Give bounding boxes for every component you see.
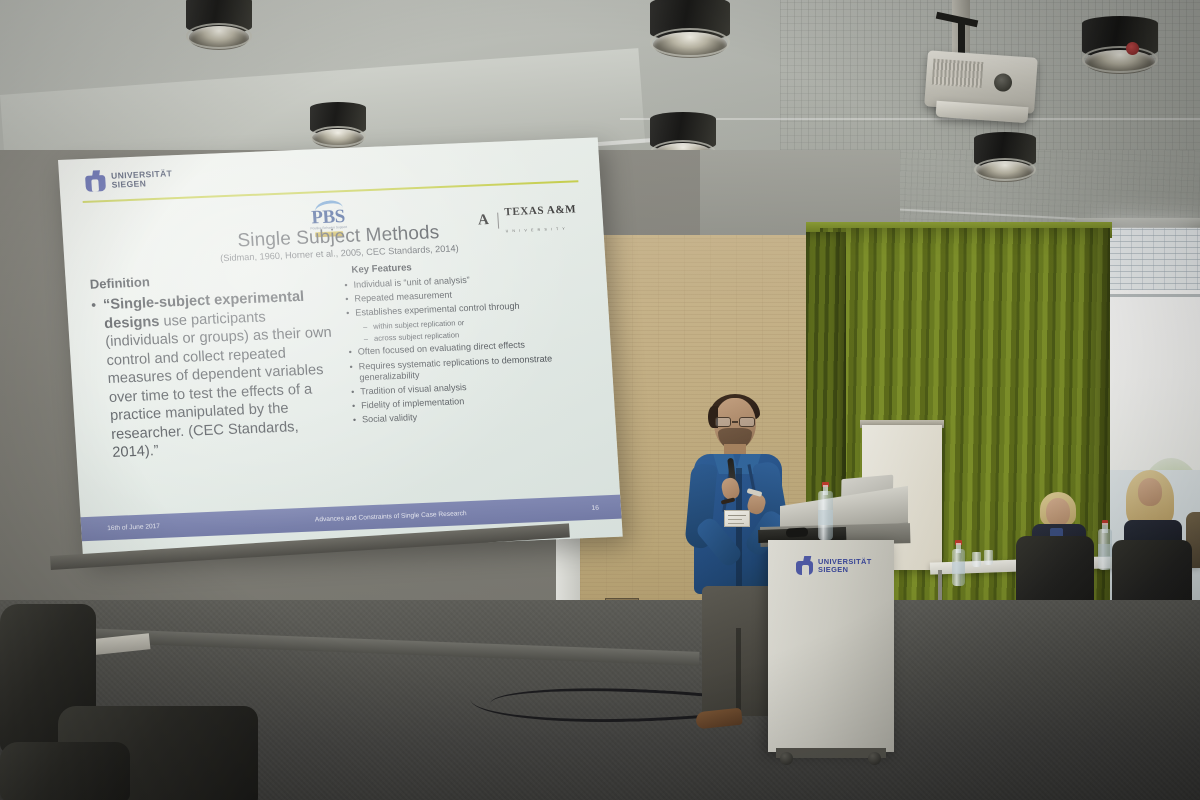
lectern-caster [868, 752, 881, 765]
presenter-shoe [695, 708, 743, 730]
key-feature-bullet: – [364, 334, 369, 344]
slide-left-column: Definition • “Single-subject experimenta… [89, 267, 341, 463]
key-feature-bullet: • [353, 415, 357, 426]
key-feature-bullet: • [348, 347, 352, 358]
texas-am-name: TEXAS A&M [504, 203, 576, 218]
slide-footer-date: 16th of June 2017 [81, 522, 160, 532]
key-feature-bullet: • [345, 294, 349, 305]
key-feature-bullet: • [349, 361, 353, 372]
ceiling-downlight-icon [974, 132, 1036, 182]
texas-am-subname: U N I V E R S I T Y [506, 227, 567, 234]
lectern-logo-line-2: SIEGEN [818, 565, 848, 574]
slide-logo-text: UNIVERSITÄT SIEGEN [111, 169, 173, 190]
key-feature-label: across subject replication [374, 330, 460, 344]
eyeglasses-icon [714, 417, 756, 427]
key-feature-bullet: – [363, 322, 368, 332]
water-bottle [818, 482, 833, 540]
slide-right-column: Key Features •Individual is “unit of ana… [343, 256, 581, 430]
university-siegen-u-mark-icon [85, 170, 106, 192]
presenter-leg-separation [736, 628, 741, 716]
key-feature-label: Social validity [362, 412, 418, 425]
slide-surface: UNIVERSITÄT SIEGEN PBS Positive Behavior… [58, 137, 623, 559]
definition-rest: use participants (individuals or groups)… [105, 309, 332, 461]
projector-mount-arm [958, 22, 965, 56]
microphone-receiver [786, 527, 808, 537]
water-bottle [1098, 520, 1112, 570]
projection-screen: UNIVERSITÄT SIEGEN PBS Positive Behavior… [58, 137, 623, 559]
water-bottle [952, 540, 965, 586]
key-feature-bullet: • [344, 280, 348, 291]
key-feature-bullet: • [352, 401, 356, 412]
lectern: UNIVERSITÄT SIEGEN [768, 540, 894, 752]
key-feature-bullet: • [346, 308, 350, 319]
logo-line-2: SIEGEN [111, 178, 146, 189]
name-badge [724, 510, 750, 527]
drinking-glass [972, 552, 981, 567]
key-feature-label: within subject replication or [373, 318, 465, 332]
key-features-list: •Individual is “unit of analysis”•Repeat… [344, 271, 581, 426]
key-feature-label: Tradition of visual analysis [360, 382, 467, 397]
window-view-building [1098, 228, 1200, 290]
key-feature-label: Fidelity of implementation [361, 396, 465, 411]
lectern-logo-text: UNIVERSITÄT SIEGEN [818, 558, 872, 574]
attendee-head [1138, 478, 1162, 506]
ceiling-downlight-icon [310, 102, 366, 148]
slide-university-logo: UNIVERSITÄT SIEGEN [85, 167, 173, 192]
ceiling-downlight-icon [650, 0, 730, 58]
drinking-glass [984, 550, 993, 565]
texas-am-logo: A TEXAS A&M U N I V E R S I T Y [474, 200, 578, 238]
wood-panel-wall-highlight [592, 238, 842, 298]
slide-page-number: 16 [591, 503, 621, 511]
ceiling-downlight-icon [1082, 16, 1158, 74]
ceiling-downlight-icon [186, 0, 252, 50]
university-siegen-u-mark-icon [796, 556, 813, 575]
key-feature-bullet: • [351, 386, 355, 397]
foreground-chair [0, 742, 130, 800]
lectern-university-logo: UNIVERSITÄT SIEGEN [796, 556, 872, 575]
definition-text: “Single-subject experimental designs use… [103, 287, 341, 463]
smoke-detector-icon [1126, 42, 1139, 55]
lectern-caster [780, 752, 793, 765]
key-feature-label: Individual is “unit of analysis” [353, 275, 470, 291]
attendee-head [1046, 498, 1070, 526]
conference-room-photo: UNIVERSITÄT SIEGEN PBS Positive Behavior… [0, 0, 1200, 800]
key-feature-label: Repeated measurement [354, 290, 452, 305]
